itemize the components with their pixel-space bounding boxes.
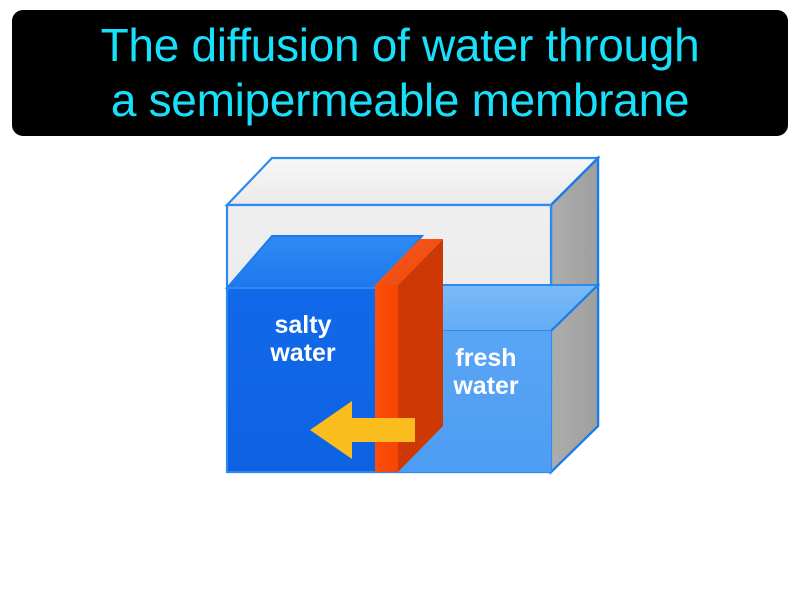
title-line-2: a semipermeable membrane [111,73,689,128]
diagram-svg: salty water fresh water [0,136,800,600]
screenshot-root: The diffusion of water through a semiper… [0,0,800,600]
salty-water-label-line1: salty [275,311,332,339]
osmosis-diagram: salty water fresh water [0,136,800,600]
salty-water-label: salty water [269,311,336,367]
fresh-water-label-line1: fresh [455,344,516,372]
salty-water-label-line2: water [269,339,336,367]
tank-top-face [227,158,598,205]
title-banner: The diffusion of water through a semiper… [12,10,788,136]
fresh-water-label: fresh water [452,344,519,400]
fresh-water-label-line2: water [452,372,519,400]
title-line-1: The diffusion of water through [101,18,700,73]
